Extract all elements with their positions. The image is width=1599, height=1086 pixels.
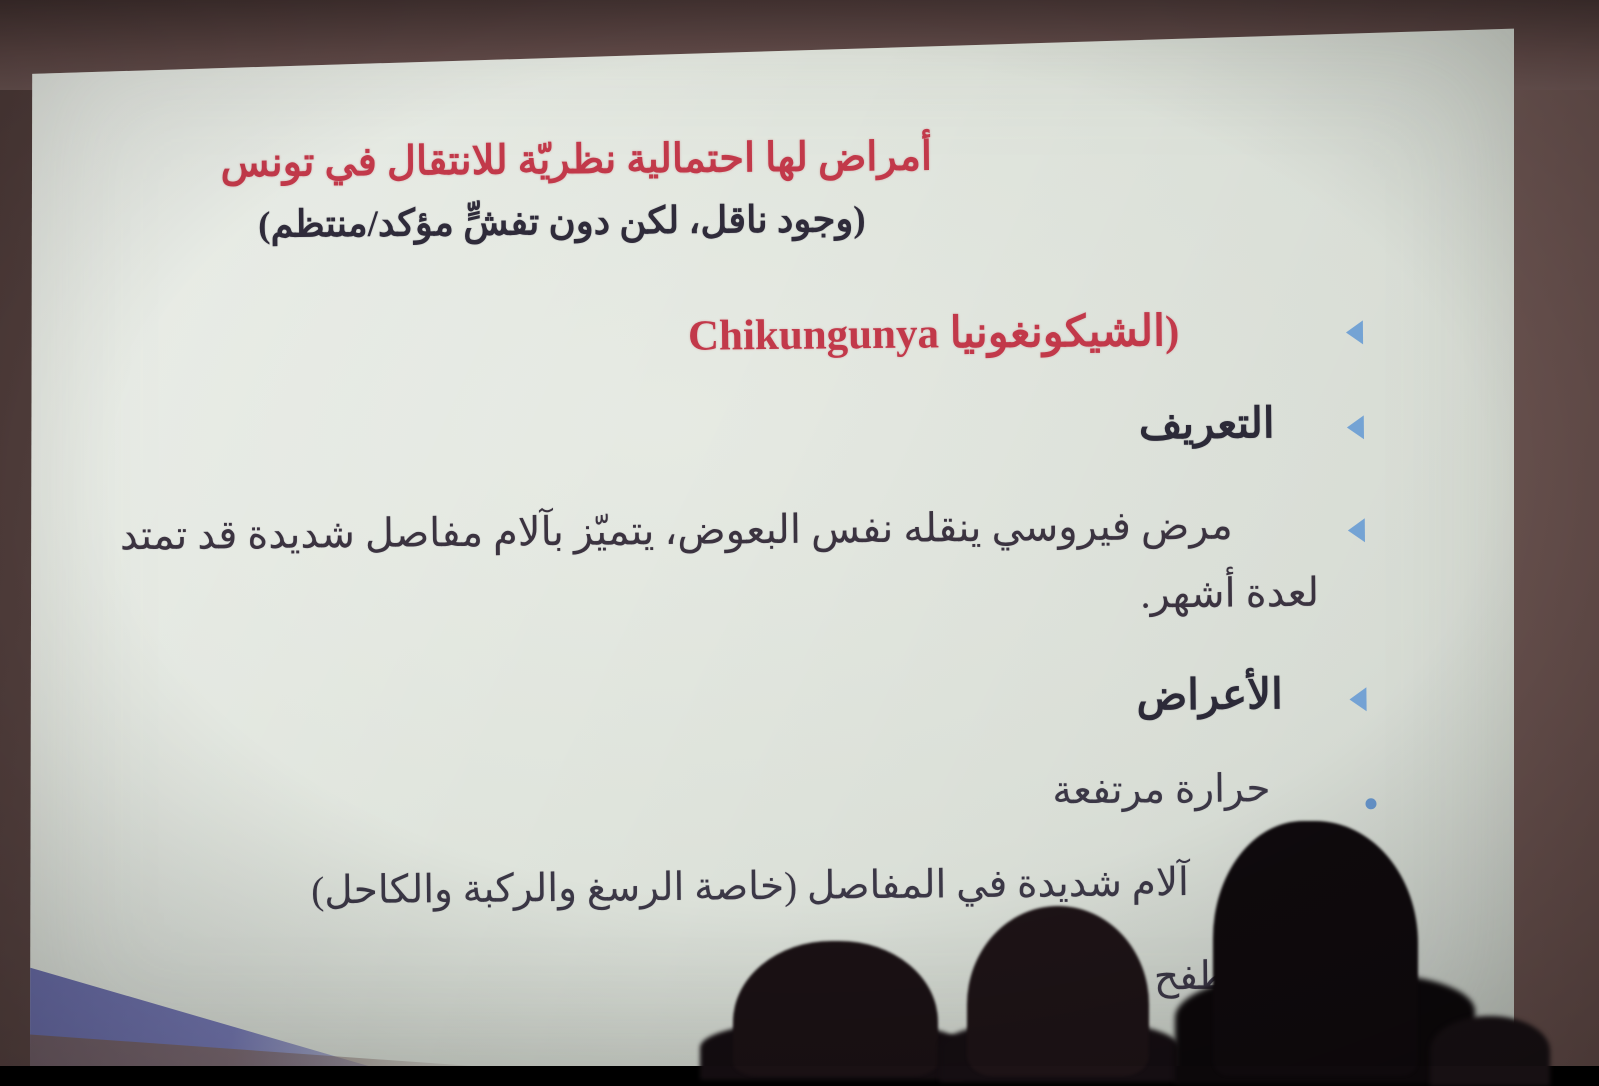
symptom-fever: حرارة مرتفعة [32, 756, 1599, 823]
definition-body-line-2: لعدة أشهر. [30, 558, 1599, 628]
definition-body-line-1: مرض فيروسي ينقله نفس البعوض، يتميّز بآلا… [30, 500, 1420, 560]
audience-head [1213, 821, 1418, 1076]
room-background: أمراض لها احتمالية نظريّة للانتقال في تو… [0, 0, 1599, 1066]
audience-head [1430, 1016, 1550, 1086]
slide-title-line-1: أمراض لها احتمالية نظريّة للانتقال في تو… [26, 131, 1126, 189]
bullet-symptoms-heading: الأعراض [31, 658, 1599, 731]
slide-title-line-2: (وجود ناقل، لكن دون تفشٍّ مؤكد/منتظم) [27, 195, 1097, 249]
bullet-disease-name: (الشيكونغونيا Chikungunya [28, 298, 1599, 367]
bullet-definition-heading: التعريف [29, 387, 1599, 460]
